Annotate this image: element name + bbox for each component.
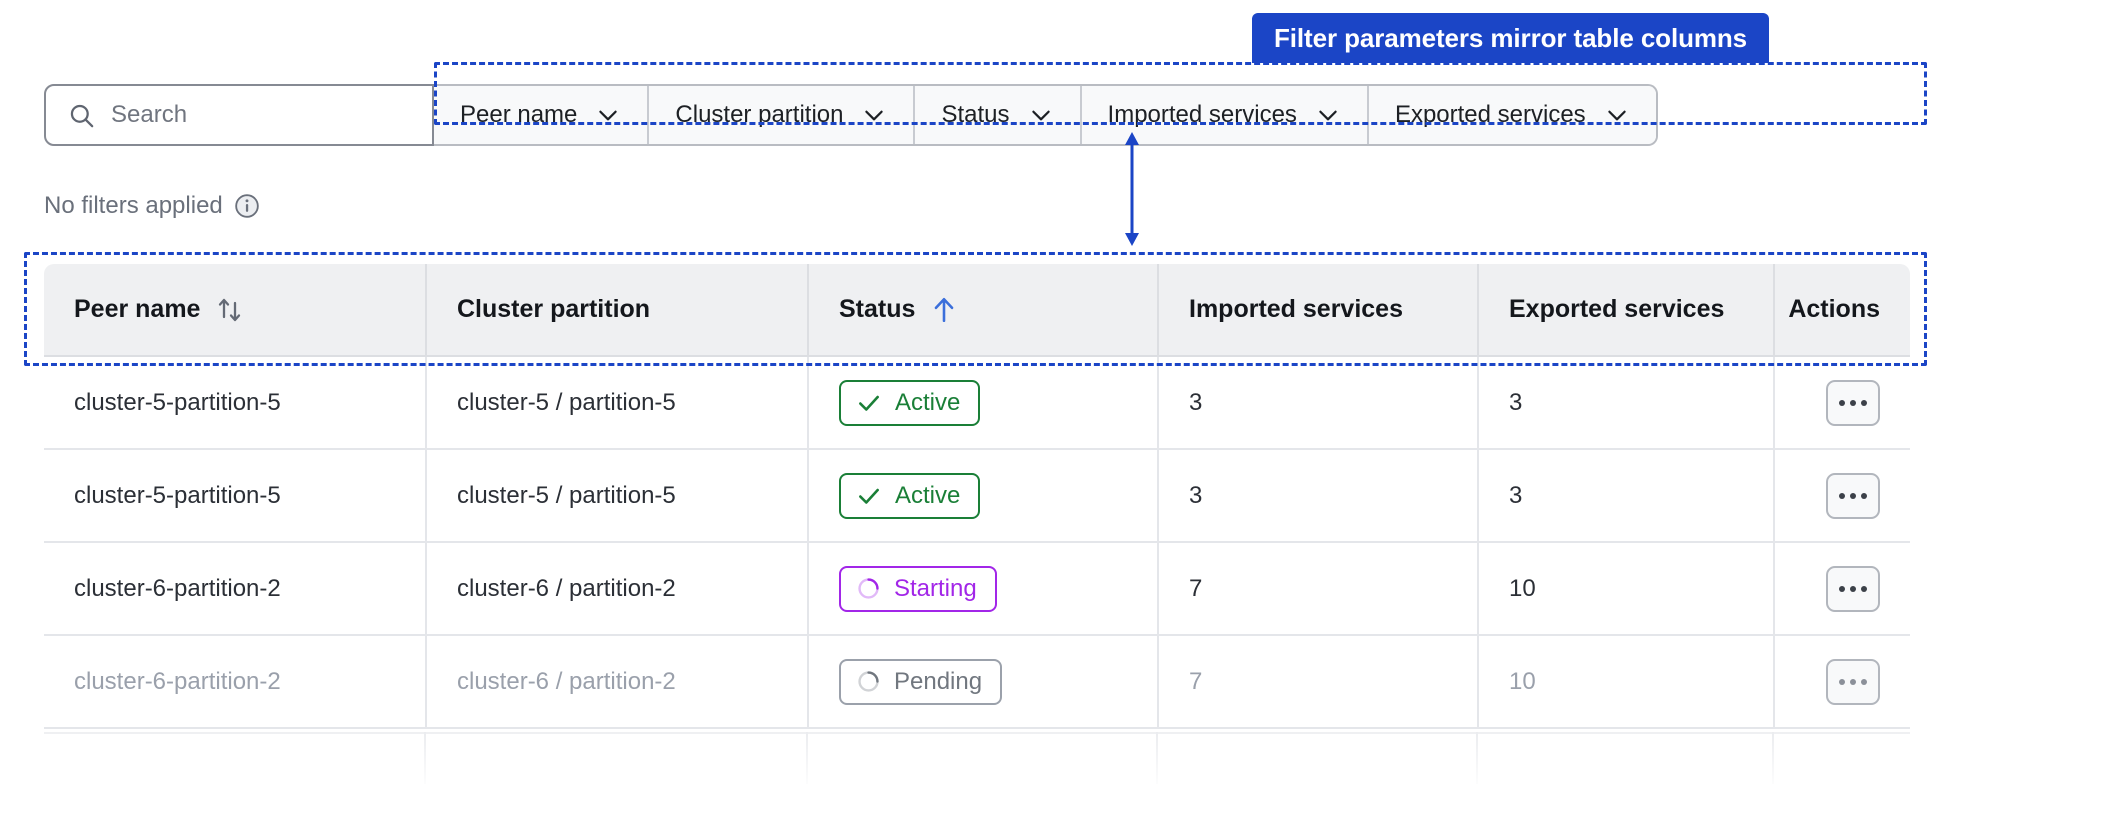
cell-cluster-partition: cluster-6 / partition-2 xyxy=(426,635,808,728)
exported-services-value: 3 xyxy=(1509,389,1522,416)
peer-name-text: cluster-6-partition-2 xyxy=(74,668,281,695)
info-circle-icon[interactable] xyxy=(234,193,260,219)
column-header-cluster-partition[interactable]: Cluster partition xyxy=(426,264,808,356)
peering-table-screen: Filter parameters mirror table columns P… xyxy=(0,0,2118,816)
cell-peer-name: cluster-6-partition-2 xyxy=(44,542,426,635)
exported-services-value: 10 xyxy=(1509,575,1536,602)
column-header-peer-name[interactable]: Peer name xyxy=(44,264,426,356)
peers-table-element: Peer nameCluster partitionStatusImported… xyxy=(44,264,1910,729)
cell-peer-name: cluster-6-partition-2 xyxy=(44,635,426,728)
peer-name-text: cluster-5-partition-5 xyxy=(74,389,281,416)
column-header-status[interactable]: Status xyxy=(808,264,1158,356)
column-header-label: Peer name xyxy=(74,295,200,324)
cell-exported-services: 3 xyxy=(1478,449,1774,542)
callout-text: Filter parameters mirror table columns xyxy=(1274,23,1747,54)
filter-pill-exported-services[interactable]: Exported services xyxy=(1369,86,1656,144)
cell-peer-name: cluster-5-partition-5 xyxy=(44,449,426,542)
cell-actions xyxy=(1774,356,1910,449)
column-header-label: Exported services xyxy=(1509,295,1724,324)
cell-exported-services: 3 xyxy=(1478,356,1774,449)
cell-imported-services: 7 xyxy=(1158,542,1478,635)
row-actions-button[interactable] xyxy=(1826,380,1880,426)
cell-status: Starting xyxy=(808,542,1158,635)
imported-services-value: 3 xyxy=(1189,389,1202,416)
status-badge-label: Starting xyxy=(894,575,977,603)
filter-pill-cluster-partition[interactable]: Cluster partition xyxy=(649,86,915,144)
cell-peer-name: cluster-5-partition-5 xyxy=(44,356,426,449)
chevron-down-icon xyxy=(1604,102,1630,128)
imported-services-value: 7 xyxy=(1189,668,1202,695)
table-body: cluster-5-partition-5cluster-5 / partiti… xyxy=(44,356,1910,728)
filters-applied-label: No filters applied xyxy=(44,192,223,220)
kebab-menu-icon xyxy=(1839,586,1867,592)
table-next-row-fade xyxy=(44,732,1910,816)
cell-actions xyxy=(1774,542,1910,635)
row-actions-button[interactable] xyxy=(1826,566,1880,612)
column-header-actions[interactable]: Actions xyxy=(1774,264,1910,356)
cell-status: Pending xyxy=(808,635,1158,728)
cell-imported-services: 3 xyxy=(1158,449,1478,542)
column-header-exported-services[interactable]: Exported services xyxy=(1478,264,1774,356)
chevron-down-icon xyxy=(1028,102,1054,128)
table-row[interactable]: cluster-6-partition-2cluster-6 / partiti… xyxy=(44,542,1910,635)
table-header-row: Peer nameCluster partitionStatusImported… xyxy=(44,264,1910,356)
cluster-partition-text: cluster-5 / partition-5 xyxy=(457,389,676,416)
cluster-partition-text: cluster-5 / partition-5 xyxy=(457,482,676,509)
status-badge-label: Active xyxy=(895,389,960,417)
cell-status: Active xyxy=(808,449,1158,542)
cluster-partition-text: cluster-6 / partition-2 xyxy=(457,668,676,695)
column-header-label: Status xyxy=(839,295,915,324)
cluster-partition-text: cluster-6 / partition-2 xyxy=(457,575,676,602)
spinner-icon xyxy=(856,576,881,601)
cell-imported-services: 7 xyxy=(1158,635,1478,728)
exported-services-value: 3 xyxy=(1509,482,1522,509)
status-badge-starting: Starting xyxy=(839,566,997,612)
peer-name-text: cluster-5-partition-5 xyxy=(74,482,281,509)
cell-exported-services: 10 xyxy=(1478,542,1774,635)
search-input[interactable] xyxy=(111,86,411,144)
arrow-up-icon[interactable] xyxy=(931,296,957,324)
check-icon xyxy=(856,390,882,416)
column-header-label: Cluster partition xyxy=(457,295,650,324)
filter-pill-label: Cluster partition xyxy=(675,101,843,129)
cell-actions xyxy=(1774,635,1910,728)
filter-toolbar: Peer nameCluster partitionStatusImported… xyxy=(44,84,1658,146)
cell-cluster-partition: cluster-5 / partition-5 xyxy=(426,356,808,449)
column-header-imported-services[interactable]: Imported services xyxy=(1158,264,1478,356)
status-badge-label: Pending xyxy=(894,668,982,696)
peers-table: Peer nameCluster partitionStatusImported… xyxy=(44,264,1910,729)
table-head: Peer nameCluster partitionStatusImported… xyxy=(44,264,1910,356)
filter-pill-status[interactable]: Status xyxy=(915,86,1081,144)
imported-services-value: 3 xyxy=(1189,482,1202,509)
filter-pill-peer-name[interactable]: Peer name xyxy=(434,86,649,144)
status-badge-active: Active xyxy=(839,380,980,426)
filter-pill-label: Imported services xyxy=(1108,101,1297,129)
cell-actions xyxy=(1774,449,1910,542)
table-row[interactable]: cluster-6-partition-2cluster-6 / partiti… xyxy=(44,635,1910,728)
filter-pill-label: Status xyxy=(941,101,1009,129)
search-icon xyxy=(68,102,95,129)
spinner-icon xyxy=(856,669,881,694)
row-actions-button[interactable] xyxy=(1826,473,1880,519)
callout-label: Filter parameters mirror table columns xyxy=(1252,13,1769,63)
row-actions-button[interactable] xyxy=(1826,659,1880,705)
chevron-down-icon xyxy=(595,102,621,128)
sort-both-arrows-icon[interactable] xyxy=(216,295,244,325)
chevron-down-icon xyxy=(861,102,887,128)
status-badge-active: Active xyxy=(839,473,980,519)
cell-cluster-partition: cluster-5 / partition-5 xyxy=(426,449,808,542)
mirror-relationship-arrow-icon xyxy=(1120,130,1144,248)
status-badge-label: Active xyxy=(895,482,960,510)
cell-exported-services: 10 xyxy=(1478,635,1774,728)
kebab-menu-icon xyxy=(1839,679,1867,685)
check-icon xyxy=(856,483,882,509)
filter-pill-label: Peer name xyxy=(460,101,577,129)
column-header-label: Actions xyxy=(1788,295,1880,324)
kebab-menu-icon xyxy=(1839,400,1867,406)
imported-services-value: 7 xyxy=(1189,575,1202,602)
table-row[interactable]: cluster-5-partition-5cluster-5 / partiti… xyxy=(44,356,1910,449)
kebab-menu-icon xyxy=(1839,493,1867,499)
filters-applied-status: No filters applied xyxy=(44,192,260,220)
table-row[interactable]: cluster-5-partition-5cluster-5 / partiti… xyxy=(44,449,1910,542)
cell-status: Active xyxy=(808,356,1158,449)
exported-services-value: 10 xyxy=(1509,668,1536,695)
peer-name-text: cluster-6-partition-2 xyxy=(74,575,281,602)
filter-pill-label: Exported services xyxy=(1395,101,1586,129)
filter-pill-group: Peer nameCluster partitionStatusImported… xyxy=(434,84,1658,146)
search-box[interactable] xyxy=(44,84,434,146)
column-header-label: Imported services xyxy=(1189,295,1403,324)
cell-cluster-partition: cluster-6 / partition-2 xyxy=(426,542,808,635)
chevron-down-icon xyxy=(1315,102,1341,128)
status-badge-pending: Pending xyxy=(839,659,1002,705)
cell-imported-services: 3 xyxy=(1158,356,1478,449)
